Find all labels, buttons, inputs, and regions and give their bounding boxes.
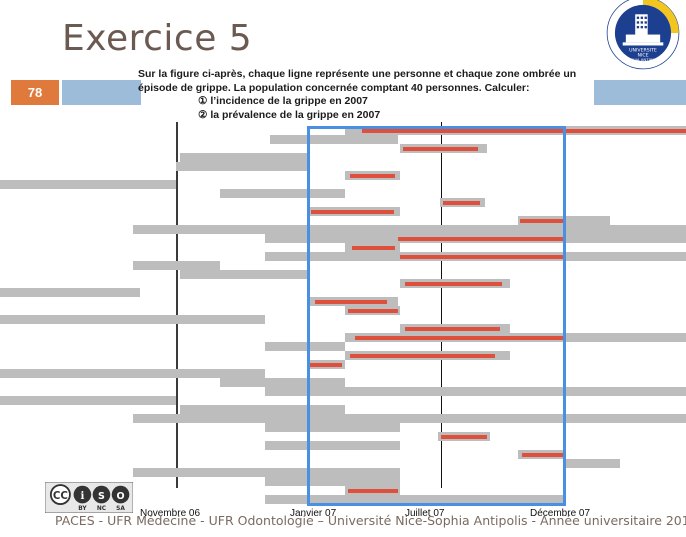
gray-episode-bar	[0, 369, 265, 378]
svg-text:BY: BY	[78, 506, 87, 512]
svg-text:i: i	[80, 490, 84, 502]
gray-episode-bar	[176, 162, 307, 171]
svg-text:NC: NC	[97, 506, 106, 512]
year-2007-highlight-box	[307, 126, 566, 506]
university-seal-logo: UNIVERSITE NICE SOPHIA ANTIPOLIS	[604, 0, 682, 72]
svg-text:O: O	[116, 491, 124, 502]
gray-episode-bar	[0, 396, 176, 405]
page-title: Exercice 5	[62, 18, 252, 59]
gray-episode-bar	[180, 270, 307, 279]
page-number-badge: 78	[11, 80, 59, 105]
svg-text:CC: CC	[53, 490, 68, 502]
gray-episode-bar	[133, 261, 220, 270]
gray-episode-bar	[566, 459, 620, 468]
svg-text:S: S	[98, 491, 105, 502]
instruction-text: Sur la figure ci-après, chaque ligne rep…	[138, 68, 618, 122]
svg-text:SOPHIA ANTIPOLIS: SOPHIA ANTIPOLIS	[625, 57, 662, 62]
creative-commons-badge: CC i S O BY NC SA	[45, 482, 133, 513]
gray-episode-bar	[0, 288, 140, 297]
instruction-line-1: Sur la figure ci-après, chaque ligne rep…	[138, 68, 560, 80]
question-1: ① l’incidence de la grippe en 2007	[198, 95, 618, 109]
gray-episode-bar	[180, 153, 307, 162]
gray-episode-bar	[0, 315, 265, 324]
svg-text:SA: SA	[116, 506, 125, 512]
gray-episode-bar	[0, 180, 176, 189]
banner-bar-left	[62, 80, 141, 105]
footer-text: PACES - UFR Médecine - UFR Odontologie –…	[55, 513, 686, 528]
question-2: ② la prévalence de la grippe en 2007	[198, 109, 618, 123]
flu-episode-chart: Novembre 06Janvier 07Juillet 07Décembre …	[0, 122, 686, 510]
